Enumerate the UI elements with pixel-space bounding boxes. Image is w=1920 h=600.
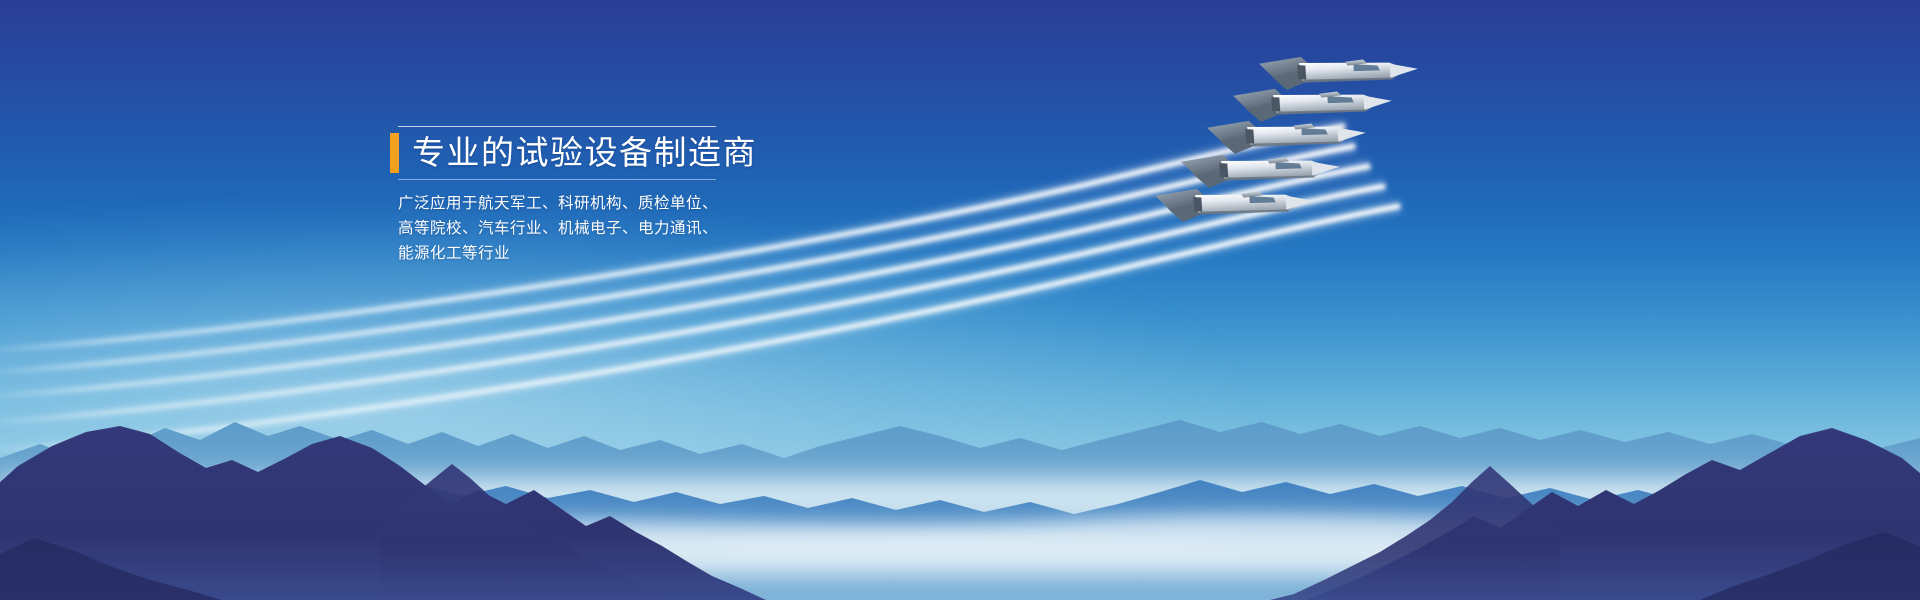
jet-formation-group — [1120, 38, 1520, 288]
jet-aircraft-5 — [1155, 181, 1315, 224]
page-title: 专业的试验设备制造商 — [412, 133, 757, 173]
hero-banner: 专业的试验设备制造商 广泛应用于航天军工、科研机构、质检单位、 高等院校、汽车行… — [0, 0, 1920, 600]
accent-bar — [390, 133, 399, 173]
mountain-range-group — [0, 340, 1920, 600]
subtitle-line-3: 能源化工等行业 — [398, 241, 730, 266]
hero-copy-block: 专业的试验设备制造商 广泛应用于航天军工、科研机构、质检单位、 高等院校、汽车行… — [390, 126, 730, 266]
subtitle-block: 广泛应用于航天军工、科研机构、质检单位、 高等院校、汽车行业、机械电子、电力通讯… — [398, 191, 730, 266]
subtitle-line-2: 高等院校、汽车行业、机械电子、电力通讯、 — [398, 216, 730, 241]
jet-aircraft-4 — [1181, 147, 1341, 190]
jet-aircraft-2 — [1233, 81, 1393, 124]
headline-bottom-rule — [398, 179, 716, 180]
subtitle-line-1: 广泛应用于航天军工、科研机构、质检单位、 — [398, 191, 730, 216]
headline-row: 专业的试验设备制造商 — [390, 127, 730, 179]
jet-aircraft-1 — [1259, 49, 1419, 92]
jet-aircraft-3 — [1207, 113, 1367, 156]
